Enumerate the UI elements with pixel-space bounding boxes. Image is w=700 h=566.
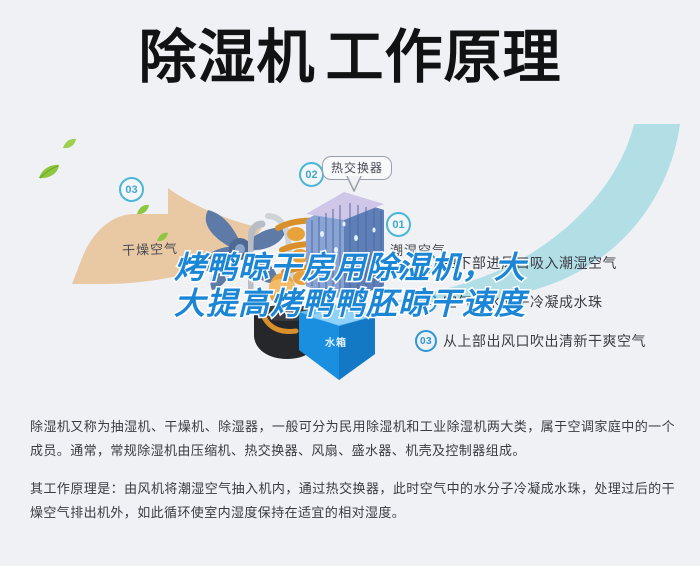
title-text: 除湿机工作原理 [138,28,561,86]
step-badge-02-diagram: 02 [299,162,324,187]
air-inlet-arrow-icon [378,260,412,278]
step-item-01: 01 由下部进风口吸入潮湿空气 [415,252,690,274]
step-number-02: 02 [415,291,437,313]
step-number-01: 01 [415,252,437,274]
body-paragraph-1: 除湿机又称为抽湿机、干燥机、除湿器，一般可分为民用除湿机和工业除湿机两大类，属于… [30,416,675,464]
dry-air-label: 干燥空气 [122,238,179,259]
page-title: 除湿机工作原理 [0,28,700,86]
step-text-03: 从上部出风口吹出清新干爽空气 [443,331,646,351]
leaf-icon [136,204,150,216]
body-copy: 除湿机又称为抽湿机、干燥机、除湿器，一般可分为民用除湿机和工业除湿机两大类，属于… [30,416,675,540]
water-tank-label: 水箱 [325,334,347,349]
step-text-02: 空气中水分子冷凝成水珠 [443,292,603,312]
diagram-stage: 水箱 03 02 01 热交换器 干燥空气 潮湿空气 01 由下部进风口吸入潮湿… [0,112,700,402]
title-part-1: 除湿机 [138,23,315,91]
step-list: 01 由下部进风口吸入潮湿空气 02 空气中水分子冷凝成水珠 03 从上部出风口… [415,252,690,369]
step-number-03: 03 [415,330,437,352]
step-item-02: 02 空气中水分子冷凝成水珠 [415,291,690,313]
leaf-icon [62,138,77,150]
heat-exchanger-block [300,190,390,300]
callout-pointer-icon [346,176,362,192]
infographic-page: 除湿机工作原理 [0,0,700,566]
body-paragraph-2: 其工作原理是：由风机将潮湿空气抽入机内，通过热交换器，此时空气中的水分子冷凝成水… [30,478,675,526]
step-badge-03-diagram: 03 [119,177,144,202]
title-part-2: 工作原理 [326,23,562,91]
step-badge-01-diagram: 01 [386,212,411,237]
step-text-01: 由下部进风口吸入潮湿空气 [443,253,617,273]
leaf-icon [38,164,60,180]
step-item-03: 03 从上部出风口吹出清新干爽空气 [415,330,690,352]
